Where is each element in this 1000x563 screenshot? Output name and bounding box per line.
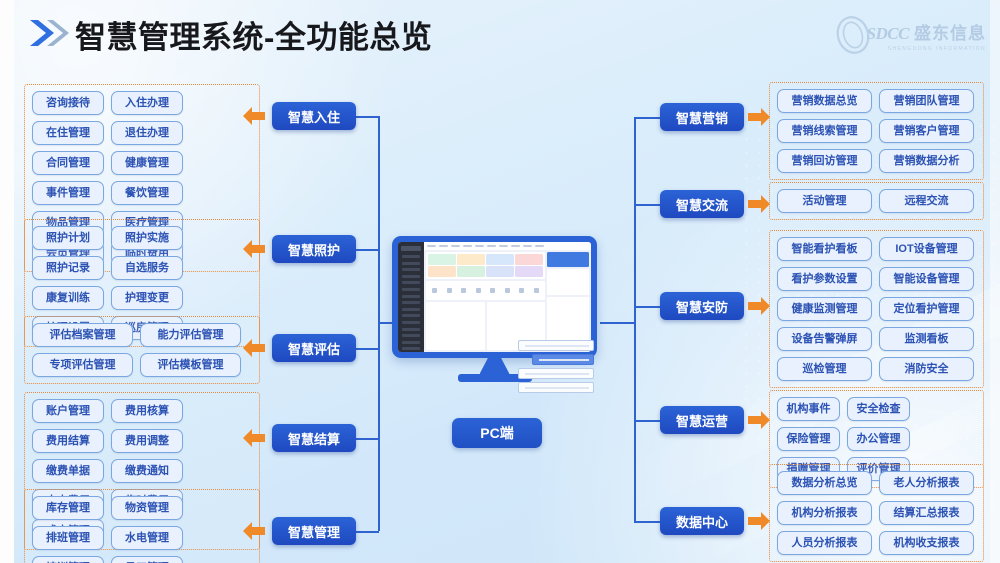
menu-item[interactable]: 照护实施 bbox=[111, 226, 183, 250]
menu-item[interactable]: 远程交流 bbox=[879, 189, 974, 213]
device-label-pc[interactable]: PC端 bbox=[452, 418, 542, 448]
menu-item[interactable]: 餐饮管理 bbox=[111, 181, 183, 205]
menu-item[interactable]: 营销客户管理 bbox=[879, 119, 974, 143]
preview-tiles bbox=[426, 252, 545, 279]
menu-item[interactable]: 物资管理 bbox=[111, 496, 183, 520]
card-shuju-zhongxin: 数据分析总览 老人分析报表 机构分析报表 结算汇总报表 人员分析报表 机构收支报… bbox=[769, 464, 984, 562]
menu-item[interactable]: 安全检查 bbox=[847, 397, 910, 421]
menu-item[interactable]: 入住办理 bbox=[111, 91, 183, 115]
node-zhihui-zhaohu[interactable]: 智慧照护 bbox=[272, 235, 356, 263]
menu-item[interactable]: 巡检管理 bbox=[777, 357, 872, 381]
menu-item[interactable]: 缴费通知 bbox=[111, 459, 183, 483]
menu-item[interactable]: 库存管理 bbox=[32, 496, 104, 520]
menu-item[interactable]: 水电管理 bbox=[111, 526, 183, 550]
arrow-left-icon bbox=[243, 106, 265, 126]
connector-line bbox=[634, 117, 660, 119]
menu-item[interactable]: 监测看板 bbox=[879, 327, 974, 351]
connector-line bbox=[355, 438, 379, 440]
menu-item[interactable]: 费用核算 bbox=[111, 399, 183, 423]
connector-line bbox=[355, 116, 379, 118]
brand-name: 盛东信息 bbox=[914, 19, 986, 44]
connector-line bbox=[634, 521, 660, 523]
node-zhihui-guanli[interactable]: 智慧管理 bbox=[272, 517, 356, 545]
preview-main bbox=[424, 242, 591, 352]
node-zhihui-yunying[interactable]: 智慧运营 bbox=[660, 406, 744, 434]
menu-item[interactable]: 营销线索管理 bbox=[777, 119, 872, 143]
monitor-screen-preview bbox=[398, 242, 591, 352]
menu-item[interactable]: 费用结算 bbox=[32, 429, 104, 453]
arrow-left-icon bbox=[243, 239, 265, 259]
menu-item[interactable]: 机构分析报表 bbox=[777, 501, 872, 525]
arrow-left-icon bbox=[243, 428, 265, 448]
arrow-right-icon bbox=[748, 511, 770, 531]
menu-item[interactable]: 费用调整 bbox=[111, 429, 183, 453]
menu-item[interactable]: 办公管理 bbox=[847, 427, 910, 451]
menu-item[interactable]: 培训管理 bbox=[32, 556, 104, 563]
menu-item[interactable]: 照护计划 bbox=[32, 226, 104, 250]
arrow-right-icon bbox=[748, 107, 770, 127]
menu-item[interactable]: 评估档案管理 bbox=[32, 323, 133, 347]
menu-item[interactable]: 营销团队管理 bbox=[879, 89, 974, 113]
menu-item[interactable]: 人员分析报表 bbox=[777, 531, 872, 555]
menu-item[interactable]: 评估模板管理 bbox=[140, 353, 241, 377]
card-zhihui-anfang: 智能看护看板 IOT设备管理 看护参数设置 智能设备管理 健康监测管理 定位看护… bbox=[769, 230, 984, 388]
menu-item[interactable]: 设备告警弹屏 bbox=[777, 327, 872, 351]
preview-banner bbox=[547, 252, 589, 267]
node-zhihui-pinggu[interactable]: 智慧评估 bbox=[272, 334, 356, 362]
menu-item[interactable]: 营销数据总览 bbox=[777, 89, 872, 113]
menu-item[interactable]: 活动管理 bbox=[777, 189, 872, 213]
connector-line bbox=[634, 420, 660, 422]
menu-item[interactable]: 员工管理 bbox=[111, 556, 183, 563]
menu-item[interactable]: 定位看护管理 bbox=[879, 297, 974, 321]
menu-item[interactable]: 自选服务 bbox=[111, 256, 183, 280]
preview-sidebar bbox=[398, 242, 424, 352]
arrow-right-icon bbox=[748, 194, 770, 214]
connector-line bbox=[634, 306, 660, 308]
menu-item[interactable]: 缴费单据 bbox=[32, 459, 104, 483]
menu-item[interactable]: 在住管理 bbox=[32, 121, 104, 145]
card-zhihui-pinggu: 评估档案管理 能力评估管理 专项评估管理 评估模板管理 bbox=[24, 316, 260, 384]
connector-line bbox=[634, 204, 660, 206]
slide-header: 智慧管理系统-全功能总览 SDCC 盛东信息 SHENGDONG INFORMA… bbox=[0, 0, 1000, 66]
menu-item[interactable]: 数据分析总览 bbox=[777, 471, 872, 495]
menu-item[interactable]: 专项评估管理 bbox=[32, 353, 133, 377]
preview-quick-icons bbox=[426, 281, 545, 300]
preview-chart bbox=[426, 302, 485, 350]
company-logo: SDCC 盛东信息 SHENGDONG INFORMATION bbox=[816, 12, 986, 58]
node-zhihui-ruzhu[interactable]: 智慧入住 bbox=[272, 102, 356, 130]
connector-line-center-to-right bbox=[600, 322, 634, 324]
menu-item[interactable]: 健康管理 bbox=[111, 151, 183, 175]
arrow-right-icon bbox=[748, 410, 770, 430]
connector-line bbox=[355, 531, 379, 533]
page-title: 智慧管理系统-全功能总览 bbox=[75, 12, 432, 57]
menu-item[interactable]: 智能看护看板 bbox=[777, 237, 872, 261]
menu-item[interactable]: IOT设备管理 bbox=[879, 237, 974, 261]
arrow-left-icon bbox=[243, 521, 265, 541]
menu-item[interactable]: 结算汇总报表 bbox=[879, 501, 974, 525]
arrow-left-icon bbox=[243, 338, 265, 358]
menu-item[interactable]: 机构收支报表 bbox=[879, 531, 974, 555]
preview-stats bbox=[547, 269, 589, 295]
node-zhihui-jiaoliu[interactable]: 智慧交流 bbox=[660, 190, 744, 218]
card-zhihui-jiaoliu: 活动管理 远程交流 bbox=[769, 182, 984, 220]
node-zhihui-anfang[interactable]: 智慧安防 bbox=[660, 292, 744, 320]
monitor-neck bbox=[480, 358, 510, 374]
menu-item[interactable]: 合同管理 bbox=[32, 151, 104, 175]
node-zhihui-jiesuan[interactable]: 智慧结算 bbox=[272, 424, 356, 452]
menu-item[interactable]: 照护记录 bbox=[32, 256, 104, 280]
menu-item[interactable]: 看护参数设置 bbox=[777, 267, 872, 291]
card-zhihui-yingxiao: 营销数据总览 营销团队管理 营销线索管理 营销客户管理 营销回访管理 营销数据分… bbox=[769, 82, 984, 180]
connector-line-left-trunk bbox=[378, 116, 380, 531]
menu-item[interactable]: 事件管理 bbox=[32, 181, 104, 205]
menu-item[interactable]: 老人分析报表 bbox=[879, 471, 974, 495]
menu-item[interactable]: 智能设备管理 bbox=[879, 267, 974, 291]
menu-item[interactable]: 咨询接待 bbox=[32, 91, 104, 115]
center-device-group: PC端 bbox=[392, 236, 597, 382]
slide-canvas: 智慧管理系统-全功能总览 SDCC 盛东信息 SHENGDONG INFORMA… bbox=[0, 0, 1000, 563]
menu-item[interactable]: 营销回访管理 bbox=[777, 149, 872, 173]
menu-item[interactable]: 营销数据分析 bbox=[879, 149, 974, 173]
arrow-right-icon bbox=[748, 296, 770, 316]
book-stack-icon bbox=[518, 340, 594, 396]
menu-item[interactable]: 健康监测管理 bbox=[777, 297, 872, 321]
card-zhihui-guanli: 库存管理 物资管理 排班管理 水电管理 培训管理 员工管理 bbox=[24, 489, 260, 563]
menu-item[interactable]: 机构事件 bbox=[777, 397, 840, 421]
connector-line bbox=[355, 249, 379, 251]
menu-item[interactable]: 排班管理 bbox=[32, 526, 104, 550]
node-zhihui-yingxiao[interactable]: 智慧营销 bbox=[660, 103, 744, 131]
connector-line-right-trunk bbox=[634, 117, 636, 521]
menu-item[interactable]: 保险管理 bbox=[777, 427, 840, 451]
preview-topbar bbox=[424, 242, 591, 250]
node-shuju-zhongxin[interactable]: 数据中心 bbox=[660, 507, 744, 535]
menu-item[interactable]: 能力评估管理 bbox=[140, 323, 241, 347]
double-chevron-icon bbox=[28, 17, 72, 49]
menu-item[interactable]: 退住办理 bbox=[111, 121, 183, 145]
menu-item[interactable]: 护理变更 bbox=[111, 286, 183, 310]
brand-subtitle: SHENGDONG INFORMATION bbox=[888, 46, 986, 52]
menu-item[interactable]: 消防安全 bbox=[879, 357, 974, 381]
brand-mark: SDCC bbox=[867, 24, 909, 44]
menu-item[interactable]: 账户管理 bbox=[32, 399, 104, 423]
menu-item[interactable]: 康复训练 bbox=[32, 286, 104, 310]
connector-line bbox=[355, 348, 379, 350]
